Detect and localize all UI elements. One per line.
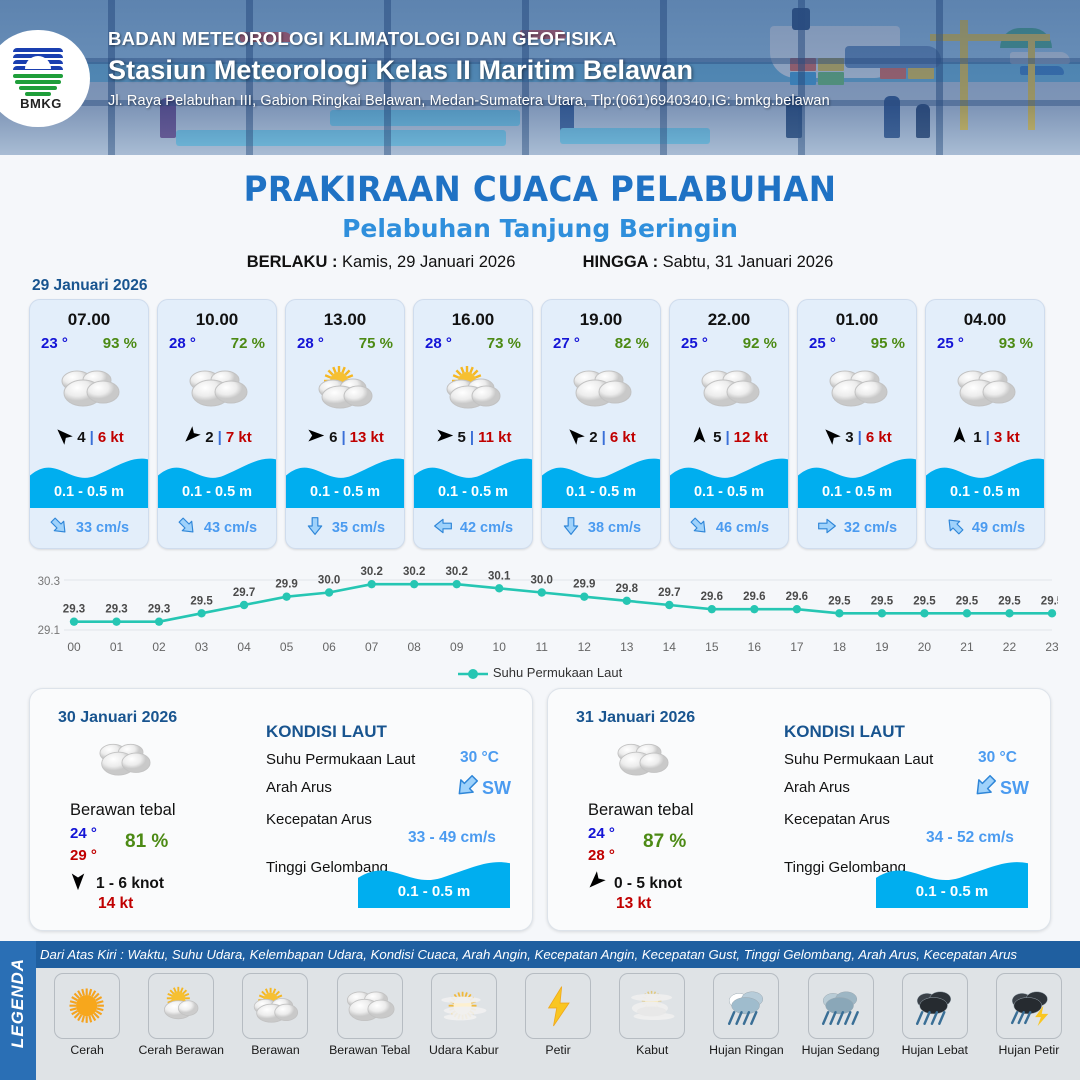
legend-section: LEGENDA Dari Atas Kiri : Waktu, Suhu Uda… xyxy=(0,941,1080,1080)
card-gust: 7 kt xyxy=(226,429,252,446)
card-humidity: 73 % xyxy=(487,335,521,352)
forecast-day-label: 29 Januari 2026 xyxy=(32,277,147,295)
panel-date: 31 Januari 2026 xyxy=(576,709,695,727)
current-direction-arrow-icon xyxy=(433,516,453,540)
svg-text:15: 15 xyxy=(705,640,719,654)
svg-text:13: 13 xyxy=(620,640,634,654)
legend-side-band: LEGENDA xyxy=(0,941,36,1080)
card-wind-speed: 2 xyxy=(205,429,213,446)
svg-text:16: 16 xyxy=(748,640,762,654)
panel-current-speed-label: Kecepatan Arus xyxy=(266,811,372,828)
current-direction-arrow-icon xyxy=(945,516,965,540)
panel-sea-title: KONDISI LAUT xyxy=(266,722,387,742)
svg-text:30.2: 30.2 xyxy=(360,566,382,578)
card-temp-humidity: 28 ° 75 % xyxy=(286,335,404,352)
panel-condition: Berawan tebal xyxy=(70,801,176,820)
haze-sun-icon xyxy=(431,973,497,1039)
legend-item: Hujan Lebat xyxy=(888,973,982,1057)
svg-text:30.0: 30.0 xyxy=(318,575,340,587)
berawan-icon xyxy=(286,360,404,416)
svg-text:29.5: 29.5 xyxy=(956,595,979,607)
card-current: 35 cm/s xyxy=(286,516,404,540)
validity-line: BERLAKU : Kamis, 29 Januari 2026 HINGGA … xyxy=(0,253,1080,272)
svg-text:22: 22 xyxy=(1003,640,1017,654)
wind-direction-arrow-icon xyxy=(54,426,73,449)
current-direction-arrow-icon xyxy=(49,516,69,540)
fog-icon xyxy=(619,973,685,1039)
card-gust: 13 kt xyxy=(350,429,384,446)
svg-text:30.2: 30.2 xyxy=(446,566,468,578)
svg-text:03: 03 xyxy=(195,640,209,654)
svg-text:30.3: 30.3 xyxy=(38,576,60,588)
svg-text:29.7: 29.7 xyxy=(233,587,255,599)
sun-small-cloud-icon xyxy=(148,973,214,1039)
logo-hill-1 xyxy=(13,74,63,78)
card-time: 01.00 xyxy=(798,310,916,330)
card-current-speed: 43 cm/s xyxy=(204,520,257,536)
legend-item-label: Kabut xyxy=(636,1043,668,1057)
svg-text:06: 06 xyxy=(322,640,336,654)
wind-direction-arrow-icon xyxy=(306,426,325,449)
svg-text:05: 05 xyxy=(280,640,294,654)
forecast-card: 10.00 28 ° 72 % 2 | 7 kt 0.1 - 0.5 m 43 xyxy=(157,299,277,549)
card-current-speed: 35 cm/s xyxy=(332,520,385,536)
panel-current-speed-label: Kecepatan Arus xyxy=(784,811,890,828)
panel-temp-min: 24 ° xyxy=(588,825,615,842)
svg-text:29.6: 29.6 xyxy=(786,591,808,603)
card-wave-height: 0.1 - 0.5 m xyxy=(542,484,660,500)
card-humidity: 82 % xyxy=(615,335,649,352)
panel-sst-value: 30 °C xyxy=(460,749,499,767)
berawan-tebal-icon xyxy=(542,360,660,416)
thunderstorm-rain-icon xyxy=(996,973,1062,1039)
wind-direction-arrow-icon xyxy=(822,426,841,449)
legend-item: Cerah Berawan xyxy=(134,973,228,1057)
card-current-speed: 42 cm/s xyxy=(460,520,513,536)
card-current: 38 cm/s xyxy=(542,516,660,540)
legend-item-label: Udara Kabur xyxy=(429,1043,499,1057)
current-direction-arrow-icon xyxy=(817,516,837,540)
wind-separator: | xyxy=(986,429,990,446)
wind-separator: | xyxy=(602,429,606,446)
wind-direction-arrow-icon xyxy=(690,426,709,449)
panel-current-speed-value: 33 - 49 cm/s xyxy=(408,829,496,847)
svg-text:30.0: 30.0 xyxy=(531,575,553,587)
panel-gust: 13 kt xyxy=(616,895,651,913)
card-temperature: 27 ° xyxy=(553,335,580,352)
panel-wind: 1 - 6 knot xyxy=(68,871,164,896)
card-wave: 0.1 - 0.5 m xyxy=(30,452,148,508)
card-humidity: 93 % xyxy=(103,335,137,352)
svg-text:18: 18 xyxy=(833,640,847,654)
card-wave-height: 0.1 - 0.5 m xyxy=(158,484,276,500)
svg-text:29.8: 29.8 xyxy=(616,583,639,595)
card-temperature: 25 ° xyxy=(937,335,964,352)
legend-item-label: Berawan Tebal xyxy=(329,1043,410,1057)
card-current-speed: 38 cm/s xyxy=(588,520,641,536)
card-wind-speed: 3 xyxy=(845,429,853,446)
station-address: Jl. Raya Pelabuhan III, Gabion Ringkai B… xyxy=(108,93,1068,109)
svg-text:29.5: 29.5 xyxy=(998,595,1021,607)
card-gust: 3 kt xyxy=(994,429,1020,446)
card-humidity: 75 % xyxy=(359,335,393,352)
wind-separator: | xyxy=(858,429,862,446)
svg-text:29.6: 29.6 xyxy=(701,591,723,603)
card-temperature: 28 ° xyxy=(169,335,196,352)
berawan-tebal-icon xyxy=(610,739,673,784)
card-time: 07.00 xyxy=(30,310,148,330)
svg-text:20: 20 xyxy=(918,640,932,654)
svg-text:08: 08 xyxy=(407,640,421,654)
sun-cloud-icon xyxy=(242,973,308,1039)
svg-text:21: 21 xyxy=(960,640,974,654)
legend-item: Berawan Tebal xyxy=(323,973,417,1057)
agency-name: BADAN METEOROLOGI KLIMATOLOGI DAN GEOFIS… xyxy=(108,28,1068,50)
card-wave: 0.1 - 0.5 m xyxy=(670,452,788,508)
panel-sst-label: Suhu Permukaan Laut xyxy=(266,751,415,768)
panel-current-dir-value-group: SW xyxy=(454,773,511,804)
card-temperature: 28 ° xyxy=(297,335,324,352)
panel-condition: Berawan tebal xyxy=(588,801,694,820)
card-wind: 1 | 3 kt xyxy=(926,426,1044,449)
current-direction-arrow-icon xyxy=(305,516,325,540)
legend-item-label: Berawan xyxy=(251,1043,300,1057)
forecast-card: 13.00 28 ° 75 % 6 | 13 kt 0.1 - 0.5 m xyxy=(285,299,405,549)
card-wind: 5 | 12 kt xyxy=(670,426,788,449)
card-temp-humidity: 28 ° 72 % xyxy=(158,335,276,352)
chart-legend-label: Suhu Permukaan Laut xyxy=(493,665,622,680)
logo-hill-4 xyxy=(25,92,51,96)
card-temp-humidity: 27 ° 82 % xyxy=(542,335,660,352)
card-wind-speed: 1 xyxy=(973,429,981,446)
panel-temp-min: 24 ° xyxy=(70,825,97,842)
valid-from-label: BERLAKU : xyxy=(247,253,338,271)
wind-separator: | xyxy=(90,429,94,446)
card-current: 42 cm/s xyxy=(414,516,532,540)
logo-hill-3 xyxy=(19,86,57,90)
wind-direction-arrow-icon xyxy=(435,426,454,449)
wind-separator: | xyxy=(470,429,474,446)
legend-item-label: Hujan Sedang xyxy=(802,1043,880,1057)
card-wind: 2 | 6 kt xyxy=(542,426,660,449)
svg-text:29.9: 29.9 xyxy=(275,579,297,591)
logo-hill-2 xyxy=(15,80,61,84)
current-direction-arrow-icon xyxy=(689,516,709,540)
legend-item: Kabut xyxy=(605,973,699,1057)
panel-wind: 0 - 5 knot xyxy=(586,871,682,896)
card-temp-humidity: 25 ° 95 % xyxy=(798,335,916,352)
wind-direction-arrow-icon xyxy=(950,426,969,449)
card-wave: 0.1 - 0.5 m xyxy=(542,452,660,508)
card-current-speed: 46 cm/s xyxy=(716,520,769,536)
svg-text:29.1: 29.1 xyxy=(38,625,60,637)
hourly-forecast-list: 07.00 23 ° 93 % 4 | 6 kt 0.1 - 0.5 m 33 xyxy=(29,299,1053,549)
berawan-tebal-icon xyxy=(926,360,1044,416)
svg-text:29.5: 29.5 xyxy=(190,595,213,607)
panel-wind-range: 0 - 5 knot xyxy=(614,875,682,893)
wind-separator: | xyxy=(341,429,345,446)
berawan-tebal-icon xyxy=(92,739,155,784)
card-time: 10.00 xyxy=(158,310,276,330)
sun-icon xyxy=(54,973,120,1039)
current-direction-arrow-icon xyxy=(972,773,998,804)
card-current: 32 cm/s xyxy=(798,516,916,540)
svg-text:29.5: 29.5 xyxy=(871,595,894,607)
forecast-card: 19.00 27 ° 82 % 2 | 6 kt 0.1 - 0.5 m 38 xyxy=(541,299,661,549)
panel-current-speed-value: 34 - 52 cm/s xyxy=(926,829,1014,847)
panel-wind-range: 1 - 6 knot xyxy=(96,875,164,893)
panel-current-dir-value: SW xyxy=(482,778,511,799)
panel-sea-title: KONDISI LAUT xyxy=(784,722,905,742)
panel-humidity: 81 % xyxy=(125,831,168,853)
card-current-speed: 32 cm/s xyxy=(844,520,897,536)
forecast-card: 22.00 25 ° 92 % 5 | 12 kt 0.1 - 0.5 m 4 xyxy=(669,299,789,549)
card-current: 46 cm/s xyxy=(670,516,788,540)
svg-text:14: 14 xyxy=(663,640,677,654)
berawan-tebal-icon xyxy=(670,360,788,416)
panel-gust: 14 kt xyxy=(98,895,133,913)
card-gust: 11 kt xyxy=(478,429,511,446)
bmkg-logo-mark xyxy=(13,46,69,98)
card-wave: 0.1 - 0.5 m xyxy=(158,452,276,508)
forecast-card: 16.00 28 ° 73 % 5 | 11 kt 0.1 - 0.5 m xyxy=(413,299,533,549)
panel-sst-value: 30 °C xyxy=(978,749,1017,767)
card-time: 16.00 xyxy=(414,310,532,330)
card-wave-height: 0.1 - 0.5 m xyxy=(926,484,1044,500)
svg-text:30.2: 30.2 xyxy=(403,566,425,578)
svg-text:29.9: 29.9 xyxy=(573,579,595,591)
card-time: 13.00 xyxy=(286,310,404,330)
wind-direction-arrow-icon xyxy=(182,426,201,449)
svg-text:29.3: 29.3 xyxy=(63,604,85,616)
card-temperature: 25 ° xyxy=(809,335,836,352)
legend-item: Udara Kabur xyxy=(417,973,511,1057)
card-wind-speed: 5 xyxy=(713,429,721,446)
svg-text:29.5: 29.5 xyxy=(828,595,851,607)
panel-wave-value: 0.1 - 0.5 m xyxy=(358,883,510,900)
svg-text:23: 23 xyxy=(1045,640,1058,654)
light-rain-icon xyxy=(713,973,779,1039)
svg-text:29.6: 29.6 xyxy=(743,591,765,603)
card-wind-speed: 6 xyxy=(329,429,337,446)
panel-temp-max: 29 ° xyxy=(70,847,97,864)
panel-current-dir-label: Arah Arus xyxy=(784,779,850,796)
card-wave: 0.1 - 0.5 m xyxy=(414,452,532,508)
legend-icon-list: Cerah Cerah Berawan Berawan Berawan Teba… xyxy=(36,968,1080,1080)
card-wind: 3 | 6 kt xyxy=(798,426,916,449)
panel-current-dir-value-group: SW xyxy=(972,773,1029,804)
berawan-icon xyxy=(414,360,532,416)
legend-item-label: Hujan Ringan xyxy=(709,1043,784,1057)
card-wave: 0.1 - 0.5 m xyxy=(926,452,1044,508)
card-temp-humidity: 23 ° 93 % xyxy=(30,335,148,352)
bmkg-logo-text: BMKG xyxy=(20,96,62,111)
card-temperature: 23 ° xyxy=(41,335,68,352)
panel-current-dir-label: Arah Arus xyxy=(266,779,332,796)
daily-forecast-panels: 30 Januari 2026 Berawan tebal 24 ° 29 ° … xyxy=(29,688,1051,931)
valid-until-label: HINGGA : xyxy=(583,253,658,271)
current-direction-arrow-icon xyxy=(454,773,480,804)
svg-text:00: 00 xyxy=(67,640,81,654)
svg-text:02: 02 xyxy=(152,640,166,654)
card-gust: 6 kt xyxy=(610,429,636,446)
forecast-card: 07.00 23 ° 93 % 4 | 6 kt 0.1 - 0.5 m 33 xyxy=(29,299,149,549)
daily-forecast-panel: 30 Januari 2026 Berawan tebal 24 ° 29 ° … xyxy=(29,688,533,931)
current-direction-arrow-icon xyxy=(177,516,197,540)
card-wind: 2 | 7 kt xyxy=(158,426,276,449)
svg-text:10: 10 xyxy=(493,640,507,654)
card-gust: 6 kt xyxy=(866,429,892,446)
svg-text:29.3: 29.3 xyxy=(105,604,127,616)
card-humidity: 72 % xyxy=(231,335,265,352)
current-direction-arrow-icon xyxy=(561,516,581,540)
lightning-icon xyxy=(525,973,591,1039)
legend-item-label: Hujan Petir xyxy=(999,1043,1060,1057)
panel-temp-max: 28 ° xyxy=(588,847,615,864)
svg-text:29.5: 29.5 xyxy=(1041,595,1058,607)
card-current-speed: 33 cm/s xyxy=(76,520,129,536)
card-wave: 0.1 - 0.5 m xyxy=(798,452,916,508)
card-gust: 6 kt xyxy=(98,429,124,446)
panel-wave-graphic: 0.1 - 0.5 m xyxy=(358,856,510,908)
card-temp-humidity: 25 ° 93 % xyxy=(926,335,1044,352)
card-wave-height: 0.1 - 0.5 m xyxy=(414,484,532,500)
legend-item: Petir xyxy=(511,973,605,1057)
panel-wave-value: 0.1 - 0.5 m xyxy=(876,883,1028,900)
svg-text:19: 19 xyxy=(875,640,889,654)
wind-separator: | xyxy=(218,429,222,446)
title-block: PRAKIRAAN CUACA PELABUHAN Pelabuhan Tanj… xyxy=(0,170,1080,272)
card-wave-height: 0.1 - 0.5 m xyxy=(670,484,788,500)
svg-text:30.1: 30.1 xyxy=(488,570,511,582)
svg-text:11: 11 xyxy=(536,640,549,654)
card-current-speed: 49 cm/s xyxy=(972,520,1025,536)
panel-date: 30 Januari 2026 xyxy=(58,709,177,727)
card-temp-humidity: 25 ° 92 % xyxy=(670,335,788,352)
card-wave: 0.1 - 0.5 m xyxy=(286,452,404,508)
forecast-card: 04.00 25 ° 93 % 1 | 3 kt 0.1 - 0.5 m 49 xyxy=(925,299,1045,549)
wind-separator: | xyxy=(725,429,729,446)
svg-text:17: 17 xyxy=(790,640,804,654)
berawan-tebal-icon xyxy=(798,360,916,416)
svg-text:29.7: 29.7 xyxy=(658,587,680,599)
clouds-icon xyxy=(337,973,403,1039)
logo-arc-1 xyxy=(13,48,63,52)
legend-item-label: Petir xyxy=(545,1043,570,1057)
berawan-tebal-icon xyxy=(30,360,148,416)
card-time: 04.00 xyxy=(926,310,1044,330)
panel-humidity: 87 % xyxy=(643,831,686,853)
card-temperature: 28 ° xyxy=(425,335,452,352)
card-gust: 12 kt xyxy=(734,429,768,446)
card-wind-speed: 5 xyxy=(458,429,466,446)
chart-legend: Suhu Permukaan Laut xyxy=(0,665,1080,680)
card-time: 22.00 xyxy=(670,310,788,330)
card-temperature: 25 ° xyxy=(681,335,708,352)
wind-direction-arrow-icon xyxy=(566,426,585,449)
card-wind-speed: 2 xyxy=(589,429,597,446)
svg-text:07: 07 xyxy=(365,640,379,654)
station-name: Stasiun Meteorologi Kelas II Maritim Bel… xyxy=(108,55,1068,86)
legend-item: Berawan xyxy=(228,973,322,1057)
svg-text:29.3: 29.3 xyxy=(148,604,170,616)
moderate-rain-icon xyxy=(808,973,874,1039)
card-humidity: 92 % xyxy=(743,335,777,352)
card-current: 49 cm/s xyxy=(926,516,1044,540)
card-wind: 6 | 13 kt xyxy=(286,426,404,449)
legend-item-label: Cerah xyxy=(70,1043,104,1057)
card-time: 19.00 xyxy=(542,310,660,330)
card-wave-height: 0.1 - 0.5 m xyxy=(798,484,916,500)
wind-direction-arrow-icon xyxy=(68,871,88,896)
legend-item: Cerah xyxy=(40,973,134,1057)
legend-item: Hujan Ringan xyxy=(699,973,793,1057)
page-header: BMKG BADAN METEOROLOGI KLIMATOLOGI DAN G… xyxy=(0,0,1080,155)
card-temp-humidity: 28 ° 73 % xyxy=(414,335,532,352)
legend-item: Hujan Sedang xyxy=(794,973,888,1057)
page-title: PRAKIRAAN CUACA PELABUHAN xyxy=(38,170,1042,210)
heavy-rain-icon xyxy=(902,973,968,1039)
legend-item-label: Hujan Lebat xyxy=(902,1043,968,1057)
page-subtitle: Pelabuhan Tanjung Beringin xyxy=(0,214,1080,243)
svg-text:04: 04 xyxy=(237,640,251,654)
svg-text:29.5: 29.5 xyxy=(913,595,936,607)
svg-text:09: 09 xyxy=(450,640,464,654)
card-humidity: 95 % xyxy=(871,335,905,352)
panel-wave-graphic: 0.1 - 0.5 m xyxy=(876,856,1028,908)
legend-side-label: LEGENDA xyxy=(8,943,28,1063)
legend-item-label: Cerah Berawan xyxy=(139,1043,224,1057)
card-current: 43 cm/s xyxy=(158,516,276,540)
berawan-tebal-icon xyxy=(158,360,276,416)
chart-legend-marker xyxy=(458,668,488,680)
svg-text:01: 01 xyxy=(110,640,124,654)
forecast-card: 01.00 25 ° 95 % 3 | 6 kt 0.1 - 0.5 m 32 xyxy=(797,299,917,549)
card-wave-height: 0.1 - 0.5 m xyxy=(30,484,148,500)
panel-current-dir-value: SW xyxy=(1000,778,1029,799)
card-wind: 5 | 11 kt xyxy=(414,426,532,449)
valid-from-value: Kamis, 29 Januari 2026 xyxy=(342,253,515,271)
card-humidity: 93 % xyxy=(999,335,1033,352)
wind-direction-arrow-icon xyxy=(586,871,606,896)
card-wave-height: 0.1 - 0.5 m xyxy=(286,484,404,500)
card-wind-speed: 4 xyxy=(77,429,85,446)
legend-item: Hujan Petir xyxy=(982,973,1076,1057)
valid-until-value: Sabtu, 31 Januari 2026 xyxy=(663,253,834,271)
panel-sst-label: Suhu Permukaan Laut xyxy=(784,751,933,768)
svg-text:12: 12 xyxy=(578,640,592,654)
card-wind: 4 | 6 kt xyxy=(30,426,148,449)
card-current: 33 cm/s xyxy=(30,516,148,540)
header-text-block: BADAN METEOROLOGI KLIMATOLOGI DAN GEOFIS… xyxy=(108,28,1068,109)
legend-note: Dari Atas Kiri : Waktu, Suhu Udara, Kele… xyxy=(40,947,1076,962)
daily-forecast-panel: 31 Januari 2026 Berawan tebal 24 ° 28 ° … xyxy=(547,688,1051,931)
